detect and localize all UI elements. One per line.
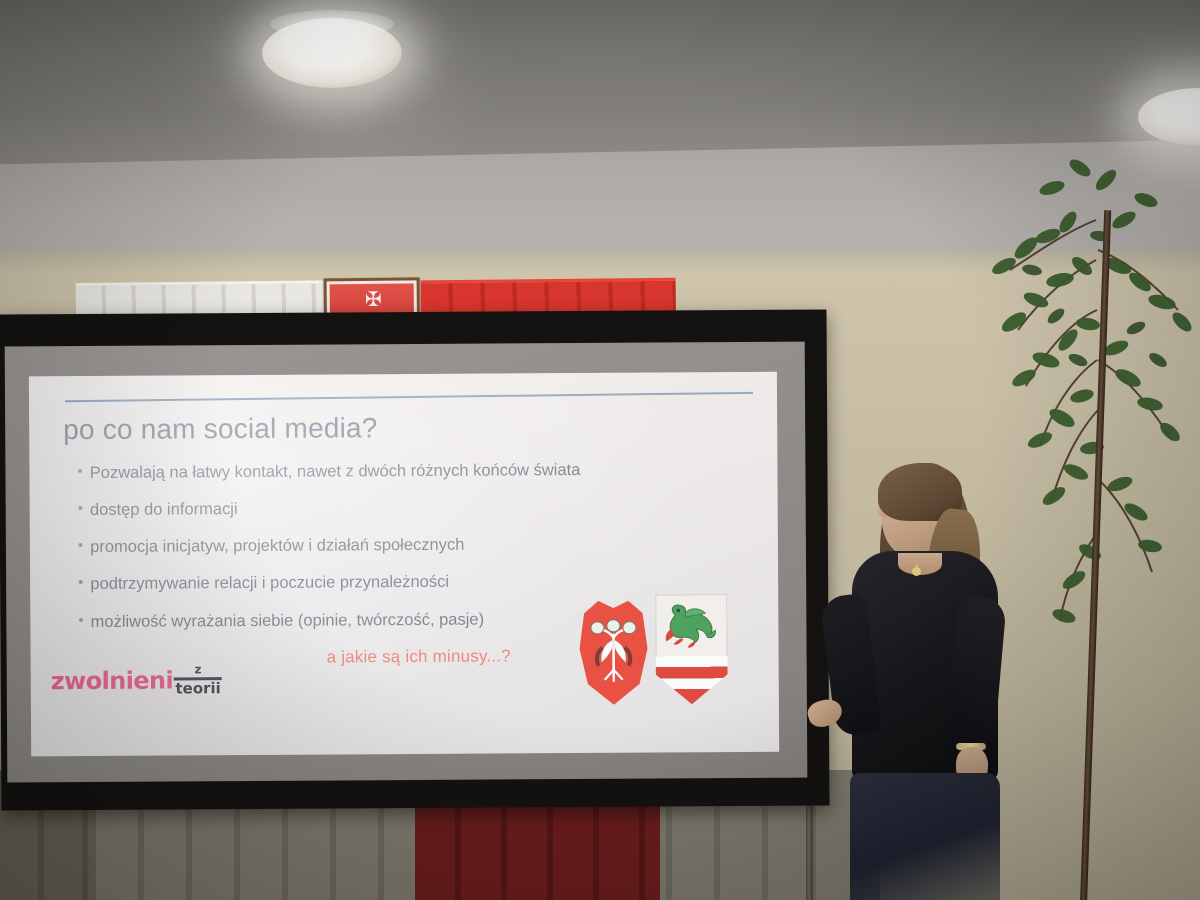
logo-word: zwolnieni <box>51 666 174 695</box>
coat-of-arms-green-dragon <box>655 594 728 704</box>
logo-numerator: z <box>194 663 201 676</box>
logo-fraction: z teorii <box>174 663 222 697</box>
list-item: • promocja inicjatyw, projektów i działa… <box>78 534 768 556</box>
ceiling-lamp-main-icon <box>262 18 402 88</box>
necklace-pendant <box>912 567 921 576</box>
bullet-text: podtrzymywanie relacji i poczucie przyna… <box>90 573 449 593</box>
slide-divider-line <box>65 392 753 402</box>
bullet-dot-icon: • <box>78 538 83 554</box>
bullet-text: możliwość wyrażania siebie (opinie, twór… <box>91 610 485 631</box>
bullet-dot-icon: • <box>78 575 83 591</box>
bullet-text: Pozwalają na łatwy kontakt, nawet z dwóc… <box>90 461 581 482</box>
room-scene: ✠ po co nam social media? • Pozwalają na… <box>0 0 1200 900</box>
list-item: • Pozwalają na łatwy kontakt, nawet z dw… <box>77 460 767 482</box>
legs-jeans <box>850 773 1000 900</box>
bullet-text: promocja inicjatyw, projektów i działań … <box>90 536 464 556</box>
list-item: • dostęp do informacji <box>78 497 768 519</box>
bullet-dot-icon: • <box>77 464 82 480</box>
presentation-slide: po co nam social media? • Pozwalają na ł… <box>29 372 779 757</box>
projection-screen-frame: po co nam social media? • Pozwalają na ł… <box>0 309 830 810</box>
projection-screen-surface: po co nam social media? • Pozwalają na ł… <box>5 342 808 783</box>
logo-denominator: teorii <box>175 681 220 697</box>
presenter-woman <box>820 455 1070 900</box>
slide-title: po co nam social media? <box>63 412 378 446</box>
bullet-dot-icon: • <box>78 501 83 517</box>
shield-stripes <box>656 656 728 705</box>
zwolnieni-z-teorii-logo: zwolnieni z teorii <box>51 663 223 697</box>
green-dragon-icon <box>661 599 721 651</box>
screen-stand-pole <box>806 800 813 900</box>
slide-question-text: a jakie są ich minusy...? <box>327 646 511 667</box>
coat-of-arms-red-lily <box>579 601 648 705</box>
lily-emblem-icon <box>590 617 636 683</box>
list-item: • podtrzymywanie relacji i poczucie przy… <box>78 571 768 593</box>
bullet-dot-icon: • <box>78 613 83 629</box>
polish-eagle-icon: ✠ <box>365 290 379 310</box>
bullet-text: dostęp do informacji <box>90 500 238 519</box>
